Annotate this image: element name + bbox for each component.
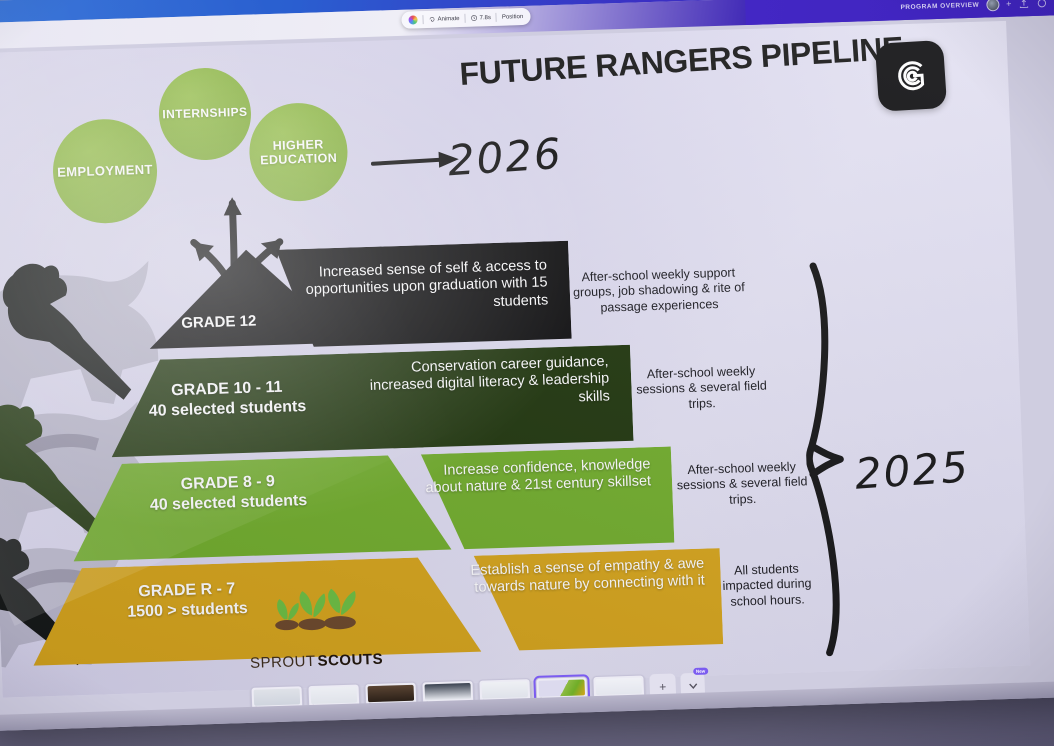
sprout-scouts-logo: SPROUT SCOUTS	[244, 586, 387, 678]
duration-label: 7.8s	[479, 15, 491, 21]
duration-button[interactable]: 7.8s	[470, 14, 491, 22]
photographed-screen: PROGRAM OVERVIEW + Animate	[0, 0, 1054, 746]
tier-grade-10-11-note: After-school weekly sessions & several f…	[621, 363, 783, 414]
animate-button[interactable]: Animate	[428, 15, 459, 23]
thumbnail-preview	[311, 686, 358, 703]
monitor-screen: PROGRAM OVERVIEW + Animate	[0, 0, 1054, 731]
thumbnail-preview	[481, 681, 528, 698]
tier-grade-8-9-outcome: Increase confidence, knowledge about nat…	[414, 456, 651, 498]
thumbnail-preview	[424, 682, 471, 699]
divider	[464, 14, 465, 23]
year-2026-label: 2026	[446, 129, 564, 185]
tier-grade-8-9-label: GRADE 8 - 9 40 selected students	[113, 470, 344, 517]
share-icon[interactable]	[1018, 0, 1029, 9]
chevron-down-icon	[688, 683, 697, 689]
sprout-word-1: SPROUT	[250, 653, 316, 672]
tier-grade-8-9-note: After-school weekly sessions & several f…	[666, 459, 818, 509]
thumbnail-preview	[254, 688, 301, 705]
page-title: FUTURE RANGERS PIPELINE	[459, 31, 891, 93]
tier-grade-12-outcome: Increased sense of self & access to oppo…	[279, 257, 549, 318]
thumbnail-preview	[595, 677, 642, 694]
new-badge: New	[693, 667, 709, 674]
sprout-word-2: SCOUTS	[317, 651, 383, 670]
position-button[interactable]: Position	[502, 13, 524, 20]
color-wheel-icon[interactable]	[408, 15, 417, 24]
tier-grade-r-7-note: All students impacted during school hour…	[714, 561, 820, 610]
thumbnail-preview	[368, 684, 415, 701]
thumbnail-preview	[538, 679, 585, 696]
tier-grade-12-label: GRADE 12	[163, 312, 274, 334]
animate-label: Animate	[437, 15, 459, 22]
circle-higher-education-label: HIGHER EDUCATION	[259, 137, 337, 167]
divider	[496, 13, 497, 22]
divider	[422, 15, 423, 24]
tier-grade-12-note: After-school weekly support groups, job …	[565, 265, 753, 317]
circle-internships-label: INTERNSHIPS	[162, 106, 248, 122]
tier-grade-10-11-outcome: Conservation career guidance, increased …	[352, 353, 610, 413]
circle-employment[interactable]: EMPLOYMENT	[51, 118, 159, 225]
tier-grade-10-11-label: GRADE 10 - 11 40 selected students	[119, 376, 335, 423]
g-monogram-logo-icon	[875, 40, 947, 112]
circle-internships[interactable]: INTERNSHIPS	[157, 67, 252, 162]
comment-icon[interactable]	[1036, 0, 1047, 8]
add-collaborator-icon[interactable]: +	[1006, 0, 1012, 9]
app-header: PROGRAM OVERVIEW +	[745, 0, 1054, 25]
app-header-title: PROGRAM OVERVIEW	[900, 1, 979, 10]
avatar[interactable]	[986, 0, 999, 11]
circle-employment-label: EMPLOYMENT	[57, 162, 153, 180]
slide-canvas[interactable]: EMPLOYMENT INTERNSHIPS HIGHER EDUCATION	[0, 21, 1030, 698]
year-2025-label: 2025	[853, 442, 971, 498]
